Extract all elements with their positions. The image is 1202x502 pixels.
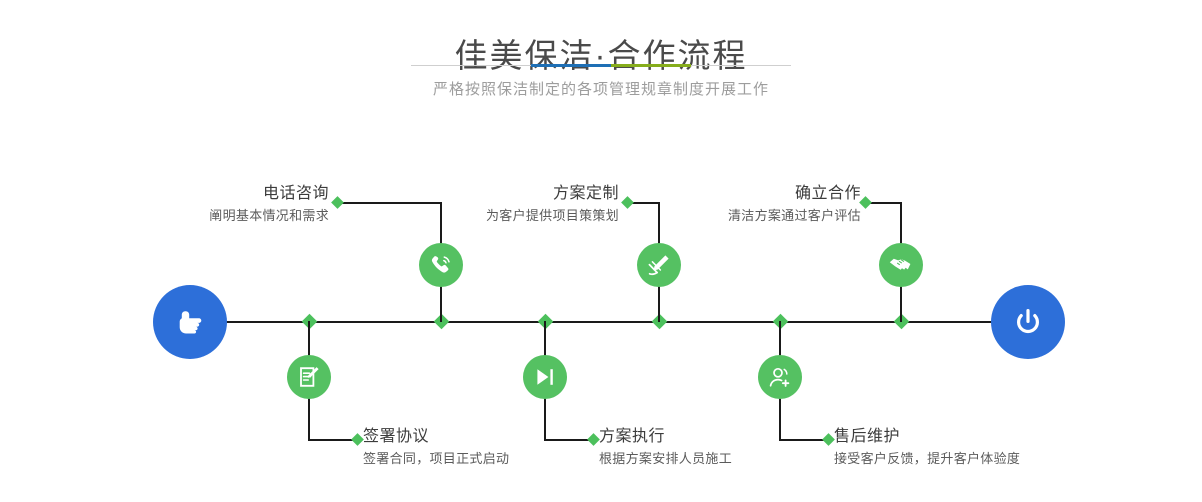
step-icon-badge[interactable] [879, 243, 923, 287]
step-icon-badge[interactable] [758, 355, 802, 399]
step-desc: 清洁方案通过客户评估 [705, 205, 861, 226]
page-title: 佳美保洁·合作流程 [0, 34, 1202, 78]
phone-call-icon [428, 252, 454, 278]
connector-diamond [859, 196, 872, 209]
step-title: 方案定制 [411, 183, 619, 205]
step-label: 方案定制 为客户提供项目策策划 [411, 183, 619, 226]
timeline-end-badge [991, 285, 1065, 359]
step-icon-badge[interactable] [637, 243, 681, 287]
step-label: 售后维护 接受客户反馈，提升客户体验度 [834, 426, 1094, 469]
headset-support-icon [767, 364, 793, 390]
step-desc: 阐明基本情况和需求 [121, 205, 329, 226]
step-icon-badge[interactable] [523, 355, 567, 399]
step-desc: 接受客户反馈，提升客户体验度 [834, 448, 1094, 469]
step-desc: 为客户提供项目策策划 [411, 205, 619, 226]
divider-green-segment [611, 64, 691, 67]
handshake-icon [888, 252, 914, 278]
step-title: 方案执行 [599, 426, 839, 448]
document-edit-icon [296, 364, 322, 390]
connector-horizontal [545, 439, 593, 441]
connector-diamond [331, 196, 344, 209]
step-title: 签署协议 [363, 426, 603, 448]
connector-horizontal [780, 439, 828, 441]
timeline-start-badge [153, 285, 227, 359]
step-label: 签署协议 签署合同，项目正式启动 [363, 426, 603, 469]
flow-diagram-page: 佳美保洁·合作流程 严格按照保洁制定的各项管理规章制度开展工作 [0, 0, 1202, 502]
step-title: 售后维护 [834, 426, 1094, 448]
step-label: 确立合作 清洁方案通过客户评估 [705, 183, 861, 226]
step-title: 电话咨询 [121, 183, 329, 205]
step-title: 确立合作 [705, 183, 861, 205]
pointing-hand-icon [170, 302, 210, 342]
power-icon [1008, 302, 1048, 342]
page-subtitle: 严格按照保洁制定的各项管理规章制度开展工作 [0, 78, 1202, 102]
step-label: 电话咨询 阐明基本情况和需求 [121, 183, 329, 226]
connector-diamond [351, 433, 364, 446]
connector-diamond [621, 196, 634, 209]
step-icon-badge[interactable] [287, 355, 331, 399]
step-label: 方案执行 根据方案安排人员施工 [599, 426, 839, 469]
connector-horizontal [309, 439, 357, 441]
step-desc: 根据方案安排人员施工 [599, 448, 839, 469]
page-header: 佳美保洁·合作流程 [0, 34, 1202, 78]
step-icon-badge[interactable] [419, 243, 463, 287]
pencil-design-icon [646, 252, 672, 278]
divider-blue-segment [531, 64, 611, 67]
play-forward-icon [532, 364, 558, 390]
title-divider [411, 64, 791, 67]
step-desc: 签署合同，项目正式启动 [363, 448, 603, 469]
